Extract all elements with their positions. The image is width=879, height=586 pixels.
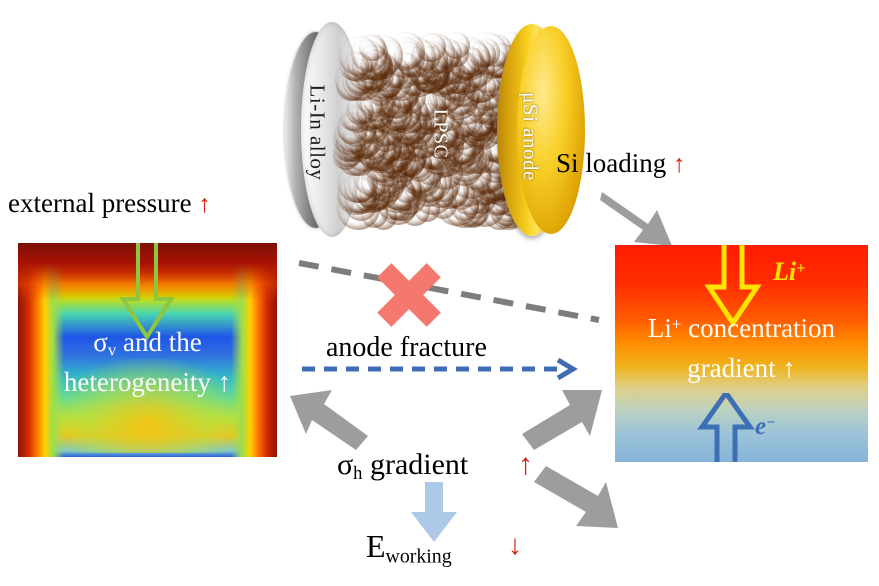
electrolyte-particle — [334, 133, 362, 161]
left-box-line1-rest: and the — [116, 327, 201, 357]
external-pressure-label: external pressure ↑ — [8, 190, 211, 217]
si-loading-up-arrow: ↑ — [673, 151, 686, 178]
external-pressure-text: external pressure — [8, 188, 192, 218]
gradient-up-arrow: ↑ — [782, 353, 796, 383]
arrow-eworking-to-concentration — [530, 460, 622, 532]
li-plus-text: Li — [648, 313, 672, 343]
gradient-text: gradient — [687, 353, 775, 383]
sigma-h-gradient-label: σh gradient — [337, 450, 468, 484]
external-pressure-up-arrow: ↑ — [198, 191, 211, 218]
electron-label: e− — [755, 413, 776, 441]
battery-cell-illustration: Li-In alloy LPSC μSi anode — [285, 22, 585, 237]
heterogeneity-up-arrow: ↑ — [218, 367, 232, 397]
arrow-to-stress-heatmap — [286, 388, 370, 454]
lpsc-label: LPSC — [429, 64, 452, 204]
si-loading-label: Si loading ↑ — [556, 150, 686, 177]
left-box-line2: heterogeneity ↑ — [18, 367, 277, 398]
li-ion-superscript: + — [796, 260, 805, 277]
li-in-alloy-label: Li-In alloy — [305, 63, 330, 203]
anode-fracture-blocked-path — [295, 255, 605, 330]
li-concentration-box-right: Li+ Li+ concentration gradient ↑ e− — [615, 245, 868, 462]
sigma-h-up-arrow: ↑ — [518, 448, 533, 482]
heterogeneity-text: heterogeneity — [64, 367, 211, 397]
sigma-h-symbol: σ — [337, 448, 353, 481]
usi-anode-label: μSi anode — [518, 62, 543, 212]
sigma-v-symbol: σ — [93, 327, 108, 357]
eworking-label: Eworking — [366, 530, 452, 567]
electron-text: e — [755, 413, 766, 440]
eworking-subscript: working — [386, 546, 452, 568]
sigma-v-subscript: v — [108, 341, 116, 360]
li-plus-superscript: + — [672, 314, 681, 333]
electrolyte-particle — [458, 106, 493, 141]
sigma-h-gradient-text: gradient — [362, 448, 468, 481]
eworking-down-arrow: ↓ — [508, 530, 522, 562]
li-ion-label: Li+ — [773, 257, 805, 287]
concentration-text: concentration — [681, 313, 835, 343]
figure-canvas: Li-In alloy LPSC μSi anode external pres… — [0, 0, 879, 586]
electron-hollow-up-arrow — [697, 393, 755, 462]
sigma-h-up-arrow-glyph: ↑ — [518, 448, 533, 481]
eworking-down-arrow-glyph: ↓ — [508, 530, 522, 561]
anode-fracture-arrow — [300, 358, 585, 380]
electrolyte-particle — [352, 174, 391, 213]
li-ion-text: Li — [773, 257, 796, 286]
stress-heatmap-left: σv and the heterogeneity ↑ — [18, 243, 277, 457]
right-box-line1: Li+ concentration — [615, 313, 868, 344]
eworking-symbol: E — [366, 528, 386, 564]
electrolyte-particle — [340, 105, 367, 132]
arrow-concentration-to-sigma-h — [516, 386, 606, 456]
right-box-line2: gradient ↑ — [615, 353, 868, 384]
left-box-line1: σv and the — [18, 327, 277, 361]
si-loading-text: Si loading — [556, 148, 666, 178]
blocked-cross-icon — [375, 262, 443, 328]
electron-superscript: − — [766, 414, 775, 431]
arrow-si-loading-to-concentration — [596, 186, 682, 254]
